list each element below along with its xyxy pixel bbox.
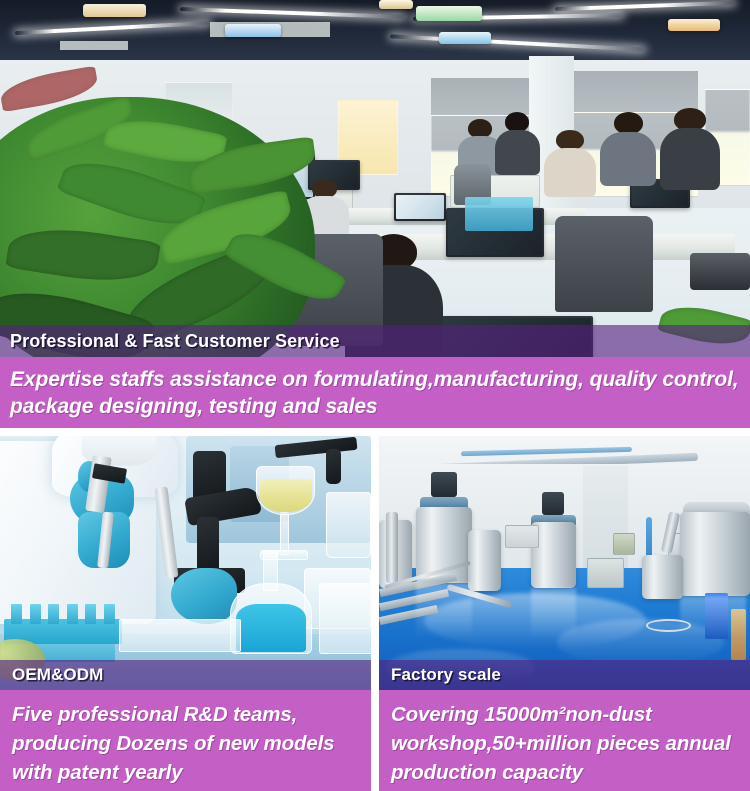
section-title-customer-service: Professional & Fast Customer Service (0, 331, 340, 352)
worker-head (312, 179, 337, 198)
worker-head (468, 119, 491, 138)
worker-head (556, 130, 583, 150)
control-panel (613, 533, 635, 556)
storage-crate (465, 197, 533, 230)
lab-glass-liquid (260, 479, 312, 512)
second-pipette (154, 486, 178, 578)
office-worker (495, 112, 540, 175)
test-tube (11, 604, 22, 624)
microplate (119, 619, 241, 652)
title-band-oem-odm: OEM&ODM (0, 660, 371, 690)
test-tube (48, 604, 59, 624)
section-factory-scale: Factory scale Covering 15000m²non-dust w… (379, 436, 750, 791)
tank-reflection (531, 588, 576, 639)
ceiling-panel (60, 41, 128, 50)
factory-photo: Factory scale (379, 436, 750, 690)
hanging-sign (83, 4, 147, 17)
lab-photo-scene (0, 436, 371, 690)
mixer-motor (431, 472, 457, 497)
factory-photo-scene (379, 436, 750, 690)
lab-glass-stem (280, 512, 289, 555)
hanging-sign (416, 6, 482, 22)
lab-beaker (326, 492, 371, 558)
worker-body (544, 148, 597, 197)
worker-body (660, 128, 720, 189)
title-band-factory-scale: Factory scale (379, 660, 750, 690)
mixing-tank (642, 555, 683, 598)
test-tube (30, 604, 41, 624)
erlenmeyer-liquid (236, 604, 306, 652)
test-tube (67, 604, 78, 624)
marketing-banner-page: Professional & Fast Customer Service Exp… (0, 0, 750, 791)
lab-clamp-post (326, 449, 341, 485)
worker-body (600, 132, 656, 186)
lab-photo: OEM&ODM (0, 436, 371, 690)
hanging-sign (225, 24, 281, 37)
worker-body (495, 130, 540, 175)
electrical-cabinet (587, 558, 624, 588)
office-worker (660, 108, 720, 190)
caption-oem-odm: Five professional R&D teams, producing D… (0, 690, 371, 791)
section-oem-odm: OEM&ODM Five professional R&D teams, pro… (0, 436, 371, 791)
caption-factory-scale: Covering 15000m²non-dust workshop,50+mil… (379, 690, 750, 791)
tank-reflection (416, 583, 472, 639)
worker-head (614, 112, 643, 134)
storage-bin (690, 253, 750, 290)
mixing-tank (468, 530, 501, 591)
office-worker (544, 130, 597, 197)
section-title-oem-odm: OEM&ODM (0, 665, 103, 685)
office-photo-scene (0, 0, 750, 372)
gloved-hand-lower (171, 568, 238, 624)
mixing-tank-large (680, 512, 750, 596)
title-band-customer-service: Professional & Fast Customer Service (0, 325, 750, 357)
hanging-sign (668, 19, 721, 32)
test-tube (104, 604, 115, 624)
mixer-motor (542, 492, 564, 515)
test-tube (85, 604, 96, 624)
hanging-sign (379, 0, 413, 9)
office-photo: Professional & Fast Customer Service (0, 0, 750, 372)
section-customer-service: Professional & Fast Customer Service Exp… (0, 0, 750, 428)
microscope-objective (197, 517, 219, 573)
control-panel (505, 525, 538, 548)
office-worker (600, 112, 656, 186)
office-chair (555, 216, 653, 313)
worker-head (505, 112, 529, 132)
process-pipe (386, 512, 397, 583)
tank-reflection (680, 596, 747, 637)
computer-monitor (394, 193, 447, 221)
section-title-factory-scale: Factory scale (379, 665, 501, 685)
hanging-sign (439, 32, 492, 44)
glass-jar (319, 583, 371, 654)
caption-customer-service: Expertise staffs assistance on formulati… (0, 357, 750, 428)
